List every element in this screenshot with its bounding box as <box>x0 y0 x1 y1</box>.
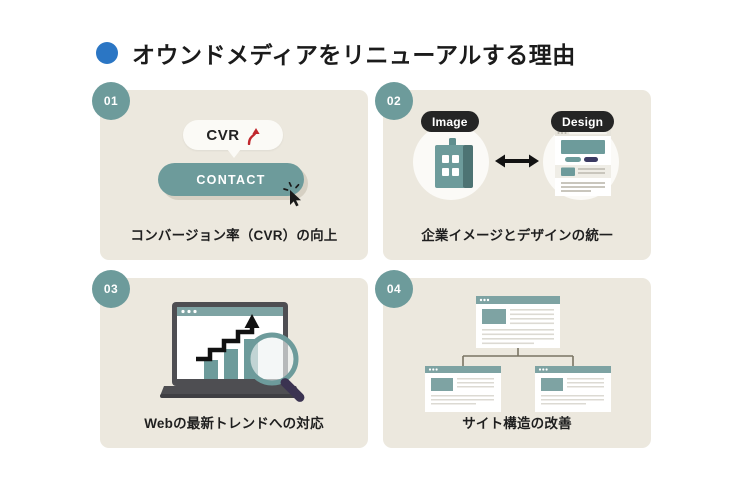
sitemap-node-child-left <box>425 366 501 412</box>
mouse-pointer-click-icon <box>282 182 308 208</box>
card-caption: Webの最新トレンドへの対応 <box>100 412 368 432</box>
card-sitemap-illustration <box>383 286 651 406</box>
laptop-icon <box>160 302 315 407</box>
cvr-bubble-label: CVR <box>206 127 239 144</box>
double-arrow-icon <box>495 152 539 170</box>
card-brand-unity[interactable]: 02 <box>383 90 651 260</box>
card-caption: コンバージョン率（CVR）の向上 <box>100 224 368 244</box>
page-title: オウンドメディアをリニューアルする理由 <box>96 36 576 70</box>
sitemap-node-root <box>476 296 560 348</box>
page-title-text: オウンドメディアをリニューアルする理由 <box>132 36 576 70</box>
cvr-speech-bubble: CVR <box>183 120 283 150</box>
card-cvr[interactable]: 01 CVR CONTACT コンバージョン率（CVR）の向上 <box>100 90 368 260</box>
card-trends-illustration <box>100 286 368 406</box>
card-cvr-illustration: CVR CONTACT <box>100 98 368 218</box>
office-building-icon <box>431 138 479 188</box>
image-label-pill: Image <box>421 111 479 132</box>
card-caption: 企業イメージとデザインの統一 <box>383 224 651 244</box>
card-brand-illustration: Image Design <box>383 98 651 218</box>
curved-up-arrow-icon <box>245 126 260 145</box>
bullet-dot-icon <box>96 42 118 64</box>
browser-window-icon <box>555 130 611 196</box>
design-label-pill: Design <box>551 111 614 132</box>
sitemap-node-child-right <box>535 366 611 412</box>
card-caption: サイト構造の改善 <box>383 412 651 432</box>
card-site-structure[interactable]: 04 <box>383 278 651 448</box>
card-web-trends[interactable]: 03 <box>100 278 368 448</box>
sitemap-hierarchy-icon <box>423 296 613 414</box>
infographic-canvas: オウンドメディアをリニューアルする理由 01 CVR CONTACT <box>0 0 750 480</box>
